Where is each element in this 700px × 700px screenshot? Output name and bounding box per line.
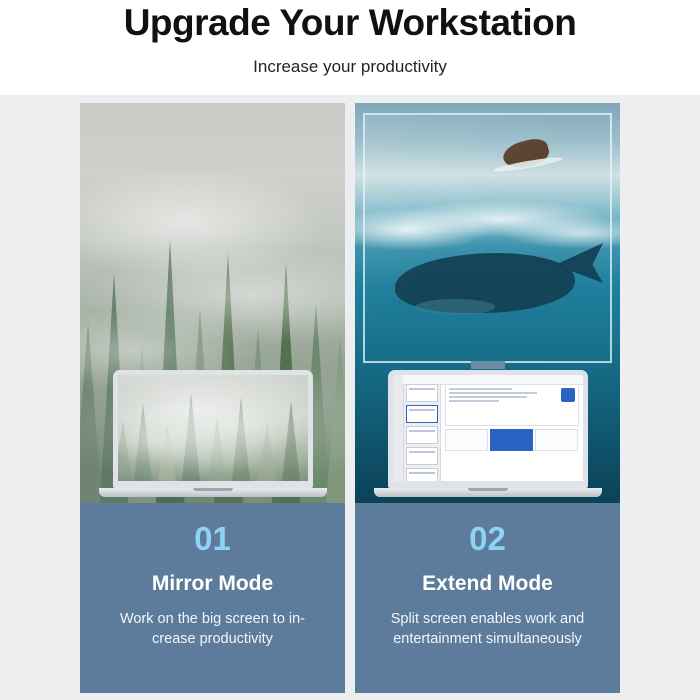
panel-description: Split screen enables work and entertainm… bbox=[380, 609, 595, 649]
slide-thumbnail[interactable] bbox=[406, 447, 438, 465]
laptop-notch bbox=[468, 488, 508, 491]
page-title: Upgrade Your Workstation bbox=[0, 0, 700, 46]
presentation-app bbox=[393, 375, 583, 481]
panel-mirror-mode[interactable]: 01 Mirror Mode Work on the big screen to… bbox=[80, 103, 345, 693]
slide-thumbnail[interactable] bbox=[406, 405, 438, 423]
whale-belly bbox=[415, 299, 495, 315]
promo-page: Upgrade Your Workstation Increase your p… bbox=[0, 0, 700, 700]
scene-ocean-image bbox=[355, 103, 620, 503]
monitor-stand bbox=[471, 361, 505, 369]
slide-card bbox=[445, 429, 488, 451]
header: Upgrade Your Workstation Increase your p… bbox=[0, 0, 700, 95]
mist-overlay bbox=[118, 375, 308, 481]
slide-editor bbox=[445, 384, 579, 426]
laptop-base bbox=[374, 488, 602, 497]
slide-thumbnail[interactable] bbox=[406, 426, 438, 444]
panel-extend-mode[interactable]: 02 Extend Mode Split screen enables work… bbox=[355, 103, 620, 693]
laptop-device bbox=[383, 370, 593, 497]
laptop-base bbox=[99, 488, 327, 497]
panels-container: 01 Mirror Mode Work on the big screen to… bbox=[0, 95, 700, 700]
app-sidebar-rail bbox=[393, 375, 404, 481]
slide-thumbnail-panel bbox=[404, 375, 441, 481]
laptop-device bbox=[108, 370, 318, 497]
laptop-screen bbox=[388, 370, 588, 488]
caption-mirror-mode: 01 Mirror Mode Work on the big screen to… bbox=[80, 503, 345, 693]
panel-mode-title: Extend Mode bbox=[355, 571, 620, 597]
page-subtitle: Increase your productivity bbox=[0, 46, 700, 78]
wave-foam bbox=[355, 191, 620, 261]
panel-mode-title: Mirror Mode bbox=[80, 571, 345, 597]
panel-description: Work on the big screen to in-crease prod… bbox=[105, 609, 320, 649]
slide-card bbox=[535, 429, 578, 451]
panel-number: 01 bbox=[80, 519, 345, 559]
slide-card bbox=[490, 429, 533, 451]
scene-forest-image bbox=[80, 103, 345, 503]
slide-thumbnail[interactable] bbox=[406, 384, 438, 402]
caption-extend-mode: 02 Extend Mode Split screen enables work… bbox=[355, 503, 620, 693]
slide-canvas bbox=[441, 375, 583, 481]
laptop-notch bbox=[193, 488, 233, 491]
panel-number: 02 bbox=[355, 519, 620, 559]
laptop-screen-forest-image bbox=[118, 375, 308, 481]
laptop-screen bbox=[113, 370, 313, 488]
slide-logo bbox=[561, 388, 575, 402]
slide-cards-row bbox=[445, 429, 579, 451]
slide-thumbnail[interactable] bbox=[406, 468, 438, 486]
